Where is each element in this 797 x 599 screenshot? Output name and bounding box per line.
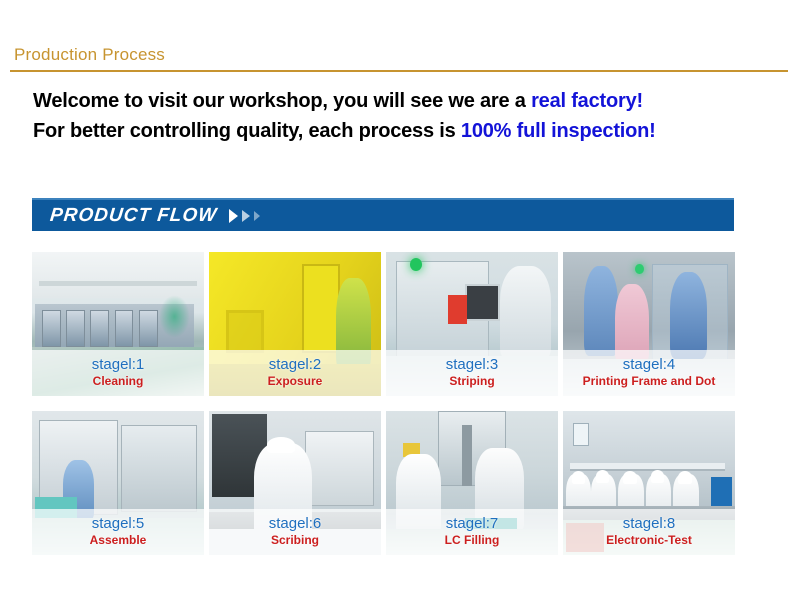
headline-line-1-plain: Welcome to visit our workshop, you will … bbox=[33, 90, 531, 112]
stage-name: Electronic-Test bbox=[606, 533, 692, 548]
process-stage-tile[interactable]: stagel:8 Electronic-Test bbox=[563, 411, 735, 555]
process-stage-tile[interactable]: stagel:5 Assemble bbox=[32, 411, 204, 555]
stage-number: stagel:6 bbox=[269, 515, 322, 532]
product-flow-title: PRODUCT FLOW bbox=[49, 205, 218, 227]
process-stage-tile[interactable]: stagel:6 Scribing bbox=[209, 411, 381, 555]
headline-block: Welcome to visit our workshop, you will … bbox=[33, 88, 773, 144]
stage-number: stagel:1 bbox=[92, 356, 145, 373]
flow-arrow-group bbox=[229, 209, 260, 223]
headline-line-2: For better controlling quality, each pro… bbox=[33, 118, 773, 144]
headline-line-1-accent: real factory! bbox=[531, 90, 643, 112]
stage-number: stagel:7 bbox=[446, 515, 499, 532]
stage-name: Printing Frame and Dot bbox=[583, 374, 716, 389]
stage-name: Striping bbox=[449, 374, 494, 389]
title-divider bbox=[10, 70, 788, 72]
stage-caption: stagel:6 Scribing bbox=[209, 509, 381, 555]
headline-line-2-plain: For better controlling quality, each pro… bbox=[33, 120, 461, 142]
page-title: Production Process bbox=[10, 44, 788, 66]
process-stage-tile[interactable]: stagel:7 LC Filling bbox=[386, 411, 558, 555]
stage-number: stagel:5 bbox=[92, 515, 145, 532]
stage-number: stagel:4 bbox=[623, 356, 676, 373]
stage-caption: stagel:5 Assemble bbox=[32, 509, 204, 555]
stage-caption: stagel:4 Printing Frame and Dot bbox=[563, 350, 735, 396]
stage-caption: stagel:8 Electronic-Test bbox=[563, 509, 735, 555]
stage-name: Cleaning bbox=[93, 374, 144, 389]
stage-name: Exposure bbox=[268, 374, 323, 389]
stage-caption: stagel:1 Cleaning bbox=[32, 350, 204, 396]
headline-line-1: Welcome to visit our workshop, you will … bbox=[33, 88, 773, 114]
stage-caption: stagel:3 Striping bbox=[386, 350, 558, 396]
product-flow-banner: PRODUCT FLOW bbox=[32, 198, 734, 231]
headline-line-2-accent: 100% full inspection! bbox=[461, 120, 656, 142]
process-stage-grid: stagel:1 Cleaning stagel:2 Exposure bbox=[32, 252, 735, 555]
stage-number: stagel:2 bbox=[269, 356, 322, 373]
stage-number: stagel:3 bbox=[446, 356, 499, 373]
stage-caption: stagel:2 Exposure bbox=[209, 350, 381, 396]
stage-name: Assemble bbox=[90, 533, 147, 548]
process-stage-tile[interactable]: stagel:3 Striping bbox=[386, 252, 558, 396]
stage-caption: stagel:7 LC Filling bbox=[386, 509, 558, 555]
play-arrow-icon bbox=[229, 209, 238, 223]
process-stage-tile[interactable]: stagel:2 Exposure bbox=[209, 252, 381, 396]
production-process-page: Production Process Welcome to visit our … bbox=[0, 0, 797, 599]
section-header: Production Process bbox=[10, 44, 788, 72]
stage-number: stagel:8 bbox=[623, 515, 676, 532]
stage-name: Scribing bbox=[271, 533, 319, 548]
process-stage-tile[interactable]: stagel:1 Cleaning bbox=[32, 252, 204, 396]
process-stage-tile[interactable]: stagel:4 Printing Frame and Dot bbox=[563, 252, 735, 396]
play-arrow-icon bbox=[242, 210, 250, 222]
stage-name: LC Filling bbox=[445, 533, 500, 548]
play-arrow-icon bbox=[254, 211, 260, 221]
